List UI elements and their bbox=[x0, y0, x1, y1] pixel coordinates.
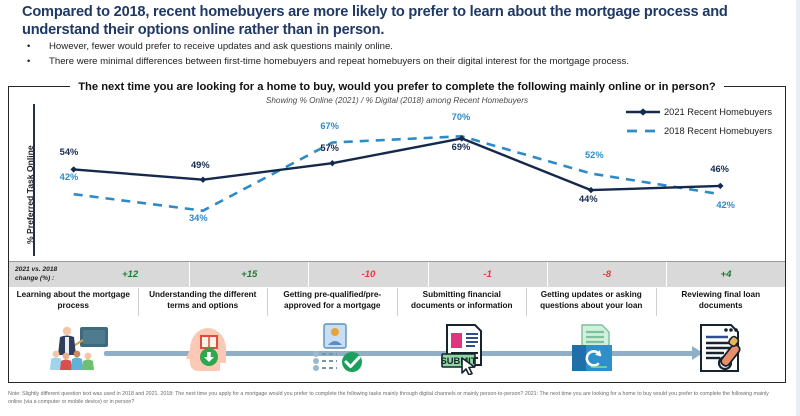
document-refresh-update-icon bbox=[564, 323, 622, 375]
bullet-marker-icon: • bbox=[22, 55, 49, 69]
icon-cell-1 bbox=[21, 318, 141, 380]
change-cell: +15 bbox=[189, 262, 308, 287]
change-value: +15 bbox=[241, 269, 257, 280]
data-label-2018: 34% bbox=[189, 213, 208, 223]
page-headline: Compared to 2018, recent homebuyers are … bbox=[22, 4, 758, 39]
data-point-2021 bbox=[588, 187, 594, 193]
change-row-label-cell: 2021 vs. 2018change (%) : bbox=[9, 262, 71, 287]
category-label: Submitting financial documents or inform… bbox=[397, 288, 527, 316]
change-cell: +4 bbox=[666, 262, 785, 287]
id-card-checklist-approved-icon bbox=[306, 323, 368, 375]
legend-item-2021[interactable]: 2021 Recent Homebuyers bbox=[626, 106, 772, 118]
chart-legend: 2021 Recent Homebuyers 2018 Recent Homeb… bbox=[626, 106, 772, 144]
change-cell: -10 bbox=[308, 262, 427, 287]
change-cell: -8 bbox=[547, 262, 666, 287]
process-icon-strip: SUBMIT bbox=[9, 318, 785, 380]
footnote: Note: Slightly different question text w… bbox=[8, 390, 784, 406]
data-point-2021 bbox=[329, 160, 335, 166]
legend-swatch-dashed-icon bbox=[626, 125, 660, 137]
list-item: • However, fewer would prefer to receive… bbox=[22, 40, 762, 54]
series-line-2018 bbox=[74, 136, 721, 210]
data-label-2018: 67% bbox=[320, 121, 339, 131]
change-value: -1 bbox=[483, 269, 492, 280]
head-with-book-icon bbox=[180, 323, 238, 375]
category-label: Getting updates or asking questions abou… bbox=[526, 288, 656, 316]
chart-plot-area: 2021 Recent Homebuyers 2018 Recent Homeb… bbox=[8, 86, 786, 266]
data-label-2018: 42% bbox=[60, 172, 79, 182]
legend-swatch-solid-icon bbox=[626, 106, 660, 118]
data-label-2018: 70% bbox=[452, 112, 471, 122]
submit-document-cursor-icon: SUBMIT bbox=[435, 323, 495, 375]
category-label: Learning about the mortgage process bbox=[9, 288, 138, 316]
change-value: -10 bbox=[361, 269, 375, 280]
data-point-2021 bbox=[200, 177, 206, 183]
change-value: +4 bbox=[720, 269, 731, 280]
data-point-2021 bbox=[717, 183, 723, 189]
icon-cell-3 bbox=[277, 318, 397, 380]
data-label-2021: 69% bbox=[452, 142, 471, 152]
data-label-2018: 42% bbox=[716, 200, 735, 210]
data-label-2021: 46% bbox=[710, 164, 729, 174]
page-edge-strip bbox=[796, 0, 800, 416]
data-label-2021: 57% bbox=[320, 143, 339, 153]
category-label: Understanding the different terms and op… bbox=[138, 288, 268, 316]
icon-cell-6 bbox=[661, 318, 781, 380]
bullet-text: There were minimal differences between f… bbox=[49, 55, 629, 69]
change-row: 2021 vs. 2018change (%) : +12 +15 -10 -1… bbox=[9, 261, 785, 287]
icon-cell-4: SUBMIT bbox=[405, 318, 525, 380]
data-label-2021: 44% bbox=[579, 194, 598, 204]
icon-cell-5 bbox=[533, 318, 653, 380]
series-line-2021 bbox=[74, 138, 721, 190]
data-label-2021: 54% bbox=[60, 147, 79, 157]
signed-final-document-icon bbox=[692, 323, 750, 375]
category-label-row: Learning about the mortgage process Unde… bbox=[9, 288, 785, 316]
change-row-label: 2021 vs. 2018change (%) : bbox=[15, 266, 57, 282]
legend-item-2018[interactable]: 2018 Recent Homebuyers bbox=[626, 125, 772, 137]
legend-label-2021: 2021 Recent Homebuyers bbox=[664, 107, 772, 117]
icon-cell-2 bbox=[149, 318, 269, 380]
data-label-2021: 49% bbox=[191, 160, 210, 170]
headline-bullet-list: • However, fewer would prefer to receive… bbox=[22, 40, 762, 70]
change-value: +12 bbox=[122, 269, 138, 280]
change-cell: +12 bbox=[71, 262, 189, 287]
change-cell: -1 bbox=[428, 262, 547, 287]
data-label-2018: 52% bbox=[585, 150, 604, 160]
list-item: • There were minimal differences between… bbox=[22, 55, 762, 69]
presenter-teaching-icon bbox=[50, 323, 112, 375]
change-value: -8 bbox=[603, 269, 612, 280]
category-label: Getting pre-qualified/pre-approved for a… bbox=[267, 288, 397, 316]
bullet-marker-icon: • bbox=[22, 40, 49, 54]
bullet-text: However, fewer would prefer to receive u… bbox=[49, 40, 393, 54]
legend-label-2018: 2018 Recent Homebuyers bbox=[664, 126, 772, 136]
category-label: Reviewing final loan documents bbox=[656, 288, 786, 316]
